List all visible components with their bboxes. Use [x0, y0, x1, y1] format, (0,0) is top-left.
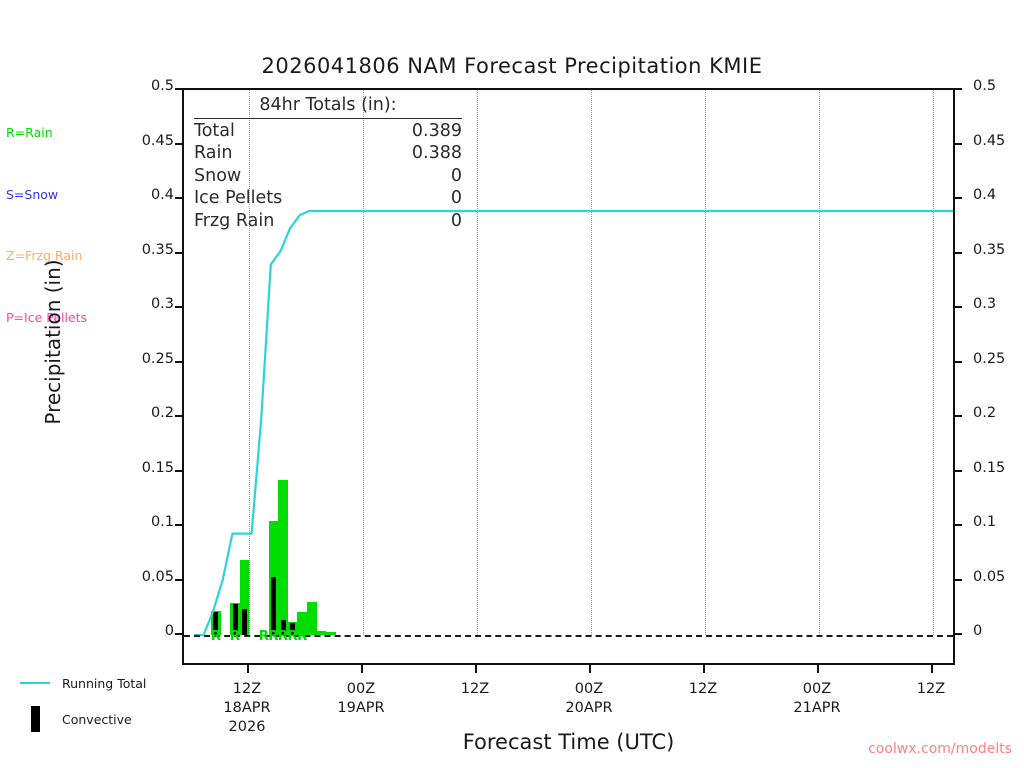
- x-tick-label-4: 12Z: [643, 680, 763, 699]
- y-tick-left-4: 0.3: [114, 296, 174, 312]
- x-tick-mark-4: [703, 665, 705, 673]
- y-tick-mark-right-6: [955, 415, 962, 417]
- totals-row-rain: Rain 0.388: [194, 142, 462, 165]
- totals-value-frzg-rain: 0: [451, 210, 462, 233]
- totals-box: 84hr Totals (in): Total 0.389 Rain 0.388…: [194, 94, 462, 233]
- y-tick-left-10: 0: [114, 623, 174, 639]
- series-legend: Running Total Convective: [8, 665, 146, 737]
- x-axis-title: Forecast Time (UTC): [182, 730, 955, 754]
- plot-area: RRRRRRR 84hr Totals (in): Total 0.389 Ra…: [182, 88, 955, 665]
- y-tick-right-4: 0.3: [973, 296, 1024, 312]
- y-tick-mark-right-9: [955, 579, 962, 581]
- x-tick-label-5: 00Z 21APR: [757, 680, 877, 718]
- y-tick-right-7: 0.15: [973, 460, 1024, 476]
- precip-type-letter-1: R: [228, 628, 242, 644]
- y-tick-mark-right-10: [955, 633, 962, 635]
- chart-title: 2026041806 NAM Forecast Precipitation KM…: [0, 54, 1024, 78]
- x-tick-label-0: 12Z 18APR 2026: [187, 680, 307, 737]
- y-tick-left-7: 0.15: [114, 460, 174, 476]
- y-tick-mark-right-8: [955, 524, 962, 526]
- x-tick-label-1: 00Z 19APR: [301, 680, 421, 718]
- y-tick-left-9: 0.05: [114, 569, 174, 585]
- totals-value-rain: 0.388: [412, 142, 462, 165]
- y-tick-left-6: 0.2: [114, 405, 174, 421]
- legend-entry-running-total: Running Total: [8, 665, 146, 701]
- totals-heading: 84hr Totals (in):: [194, 94, 462, 119]
- precip-type-letter-6: R: [295, 628, 309, 644]
- y-tick-mark-left-7: [175, 470, 182, 472]
- y-tick-mark-left-6: [175, 415, 182, 417]
- y-tick-mark-right-3: [955, 252, 962, 254]
- convective-swatch-icon: [8, 706, 62, 732]
- precip-type-row: RRRRRRR: [184, 628, 953, 646]
- running-total-line-icon: [8, 682, 62, 684]
- y-tick-right-6: 0.2: [973, 405, 1024, 421]
- y-tick-right-8: 0.1: [973, 514, 1024, 530]
- y-tick-mark-left-9: [175, 579, 182, 581]
- x-tick-mark-6: [931, 665, 933, 673]
- legend-label-running-total: Running Total: [62, 676, 146, 691]
- y-tick-right-9: 0.05: [973, 569, 1024, 585]
- totals-row-total: Total 0.389: [194, 120, 462, 143]
- totals-value-total: 0.389: [412, 120, 462, 143]
- x-tick-mark-0: [247, 665, 249, 673]
- totals-label-rain: Rain: [194, 142, 232, 165]
- y-tick-mark-left-5: [175, 361, 182, 363]
- y-tick-mark-left-8: [175, 524, 182, 526]
- y-tick-left-5: 0.25: [114, 351, 174, 367]
- watermark: coolwx.com/modelts: [868, 741, 1012, 757]
- y-tick-mark-left-10: [175, 633, 182, 635]
- y-tick-mark-left-4: [175, 306, 182, 308]
- y-tick-mark-right-2: [955, 197, 962, 199]
- y-tick-mark-right-1: [955, 143, 962, 145]
- totals-label-snow: Snow: [194, 165, 241, 188]
- legend-item-rain: R=Rain: [6, 123, 87, 144]
- y-tick-mark-right-0: [955, 88, 962, 90]
- y-tick-left-2: 0.4: [114, 187, 174, 203]
- totals-label-frzg-rain: Frzg Rain: [194, 210, 274, 233]
- y-tick-right-0: 0.5: [973, 78, 1024, 94]
- x-tick-mark-2: [475, 665, 477, 673]
- precip-type-letter-0: R: [209, 628, 223, 644]
- x-tick-mark-3: [589, 665, 591, 673]
- y-tick-right-10: 0: [973, 623, 1024, 639]
- y-tick-left-3: 0.35: [114, 242, 174, 258]
- y-axis-right-ticks: 0.50.450.40.350.30.250.20.150.10.050: [963, 88, 1024, 633]
- totals-row-frzg-rain: Frzg Rain 0: [194, 210, 462, 233]
- x-tick-label-2: 12Z: [415, 680, 535, 699]
- y-tick-left-8: 0.1: [114, 514, 174, 530]
- x-tick-label-6: 12Z: [871, 680, 991, 699]
- y-tick-mark-right-7: [955, 470, 962, 472]
- x-tick-label-3: 00Z 20APR: [529, 680, 649, 718]
- y-tick-mark-left-1: [175, 143, 182, 145]
- y-tick-mark-left-2: [175, 197, 182, 199]
- totals-label-total: Total: [194, 120, 235, 143]
- totals-value-ice-pellets: 0: [451, 187, 462, 210]
- y-tick-left-0: 0.5: [114, 78, 174, 94]
- totals-row-ice-pellets: Ice Pellets 0: [194, 187, 462, 210]
- totals-row-snow: Snow 0: [194, 165, 462, 188]
- legend-entry-convective: Convective: [8, 701, 146, 737]
- y-tick-left-1: 0.45: [114, 133, 174, 149]
- totals-value-snow: 0: [451, 165, 462, 188]
- x-tick-mark-1: [361, 665, 363, 673]
- y-tick-right-5: 0.25: [973, 351, 1024, 367]
- totals-label-ice-pellets: Ice Pellets: [194, 187, 282, 210]
- y-tick-right-1: 0.45: [973, 133, 1024, 149]
- x-tick-mark-5: [817, 665, 819, 673]
- y-tick-mark-right-5: [955, 361, 962, 363]
- y-tick-mark-right-4: [955, 306, 962, 308]
- y-tick-mark-left-0: [175, 88, 182, 90]
- y-tick-right-3: 0.35: [973, 242, 1024, 258]
- y-tick-mark-left-3: [175, 252, 182, 254]
- legend-label-convective: Convective: [62, 712, 132, 727]
- y-axis-left-ticks: 0.50.450.40.350.30.250.20.150.10.050: [112, 88, 174, 633]
- plot-inner: RRRRRRR 84hr Totals (in): Total 0.389 Ra…: [184, 90, 953, 663]
- y-tick-right-2: 0.4: [973, 187, 1024, 203]
- y-axis-title: Precipitation (in): [41, 172, 65, 512]
